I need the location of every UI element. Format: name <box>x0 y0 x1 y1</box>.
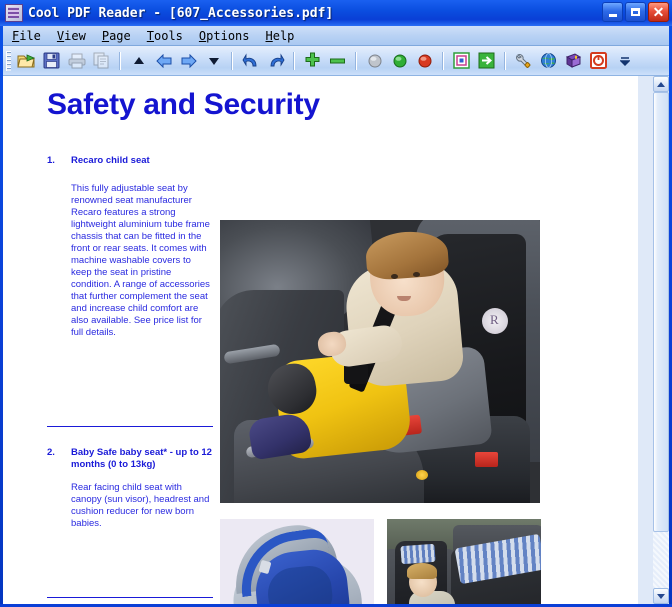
bookmarks-button[interactable] <box>562 49 585 72</box>
save-icon <box>43 52 60 69</box>
scrollbar-track[interactable] <box>653 92 669 588</box>
red-circle-button[interactable] <box>413 49 436 72</box>
menu-item-page[interactable]: Page <box>95 28 138 44</box>
menu-item-help[interactable]: Help <box>259 28 302 44</box>
previous-page-icon <box>155 54 173 68</box>
item-1-body: This fully adjustable seat by renowned s… <box>71 183 213 339</box>
close-icon: ✕ <box>653 5 665 19</box>
redo-icon <box>267 53 285 69</box>
redo-button[interactable] <box>264 49 287 72</box>
section-divider-2 <box>47 597 213 598</box>
minimize-button[interactable] <box>602 2 623 22</box>
green-circle-icon <box>393 54 407 68</box>
child-in-recaro-child-seat-photo <box>220 220 540 503</box>
item-2-body: Rear facing child seat with canopy (sun … <box>71 482 211 530</box>
settings-wrench-icon <box>515 52 532 69</box>
menu-item-options[interactable]: Options <box>192 28 257 44</box>
last-page-button[interactable] <box>202 49 225 72</box>
next-page-button[interactable] <box>177 49 200 72</box>
menu-item-options-rest: ptions <box>206 29 249 43</box>
toolbar-separator-2 <box>231 52 233 70</box>
menu-item-file[interactable]: File <box>5 28 48 44</box>
menu-item-help-rest: elp <box>273 29 295 43</box>
window-controls: ✕ <box>602 2 669 22</box>
item-1-heading: Recaro child seat <box>71 155 216 167</box>
undo-button[interactable] <box>239 49 262 72</box>
first-page-icon <box>132 55 146 67</box>
toolbar <box>3 46 669 76</box>
toolbar-separator-3 <box>293 52 295 70</box>
menu-item-file-rest: ile <box>19 29 41 43</box>
fit-page-icon <box>453 52 470 69</box>
next-page-icon <box>180 54 198 68</box>
minimize-icon <box>609 14 617 17</box>
item-2-heading: Baby Safe baby seat* - up to 12 months (… <box>71 447 213 470</box>
previous-page-button[interactable] <box>152 49 175 72</box>
application-window: Cool PDF Reader - [607_Accessories.pdf] … <box>0 0 672 607</box>
window-title: Cool PDF Reader - [607_Accessories.pdf] <box>28 6 333 21</box>
pdf-page: Safety and Security 1. Recaro child seat… <box>3 76 638 604</box>
last-page-icon <box>207 55 221 67</box>
open-icon <box>17 52 36 70</box>
zoom-in-button[interactable] <box>301 49 324 72</box>
menu-item-page-rest: age <box>109 29 131 43</box>
toolbar-overflow-icon <box>620 52 630 70</box>
document-view[interactable]: Safety and Security 1. Recaro child seat… <box>3 76 669 604</box>
chevron-down-icon <box>657 594 665 599</box>
menu-item-tools[interactable]: Tools <box>140 28 190 44</box>
exit-icon <box>590 52 607 69</box>
pdf-app-icon <box>5 4 23 22</box>
copy-icon <box>93 52 110 69</box>
globe-icon <box>540 52 557 69</box>
copy-button <box>90 49 113 72</box>
menu-item-view[interactable]: View <box>50 28 93 44</box>
toolbar-separator-4 <box>355 52 357 70</box>
menu-bar: File View Page Tools Options Help <box>3 26 669 46</box>
settings-button[interactable] <box>512 49 535 72</box>
zoom-out-button[interactable] <box>326 49 349 72</box>
book-icon <box>565 53 582 69</box>
maximize-icon <box>631 8 640 16</box>
undo-icon <box>242 53 260 69</box>
web-button[interactable] <box>537 49 560 72</box>
toolbar-separator-1 <box>119 52 121 70</box>
save-button[interactable] <box>40 49 63 72</box>
full-screen-button[interactable] <box>475 49 498 72</box>
fit-page-button[interactable] <box>450 49 473 72</box>
toolbar-separator-5 <box>442 52 444 70</box>
green-circle-button[interactable] <box>388 49 411 72</box>
print-button <box>65 49 88 72</box>
red-circle-icon <box>418 54 432 68</box>
exit-button[interactable] <box>587 49 610 72</box>
maximize-button[interactable] <box>625 2 646 22</box>
page-title: Safety and Security <box>47 88 320 122</box>
section-divider-1 <box>47 426 213 427</box>
menu-item-view-rest: iew <box>64 29 86 43</box>
close-button[interactable]: ✕ <box>648 2 669 22</box>
first-page-button[interactable] <box>127 49 150 72</box>
toolbar-overflow-button[interactable] <box>613 49 636 72</box>
zoom-out-icon <box>329 56 346 66</box>
scroll-up-button[interactable] <box>653 76 669 92</box>
item-2-number: 2. <box>47 447 55 458</box>
open-button[interactable] <box>15 49 38 72</box>
toolbar-separator-6 <box>504 52 506 70</box>
title-bar[interactable]: Cool PDF Reader - [607_Accessories.pdf] … <box>0 0 672 26</box>
toolbar-grip[interactable] <box>6 51 11 71</box>
grey-circle-button[interactable] <box>363 49 386 72</box>
blue-baby-safe-seat-photo <box>220 519 374 604</box>
grey-circle-icon <box>368 54 382 68</box>
item-1-number: 1. <box>47 155 55 166</box>
menu-item-tools-rest: ools <box>154 29 183 43</box>
full-screen-icon <box>478 52 495 69</box>
print-icon <box>68 53 86 69</box>
vertical-scrollbar[interactable] <box>653 76 669 604</box>
zoom-in-icon <box>304 52 321 69</box>
child-in-rear-car-seat-photo <box>387 519 541 604</box>
scrollbar-thumb[interactable] <box>653 92 669 532</box>
chevron-up-icon <box>657 82 665 87</box>
scroll-down-button[interactable] <box>653 588 669 604</box>
